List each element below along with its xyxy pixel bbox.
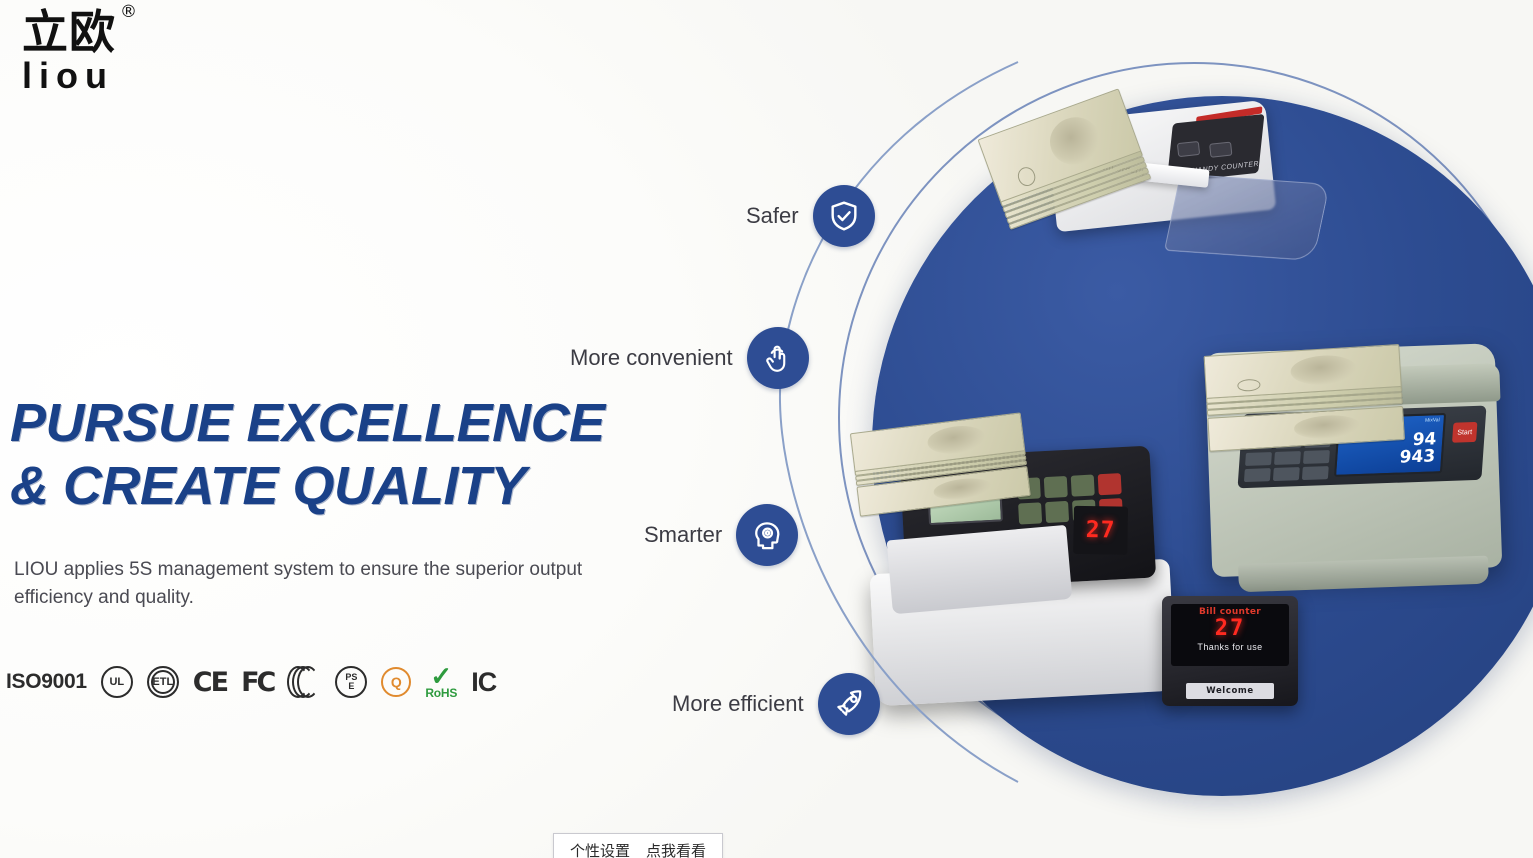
cert-fcc-icon: FC xyxy=(241,667,273,698)
registered-trademark-icon: ® xyxy=(120,4,138,22)
portable-clear-tray xyxy=(1164,174,1330,262)
black-counter-cash-stack xyxy=(850,412,1029,504)
logo-latin-name: liou xyxy=(22,58,222,94)
hero-product-circle: HANDY COUNTER Please place bill orderly xyxy=(838,62,1533,802)
external-display-frame: Bill counter 27 Thanks for use Welcome xyxy=(1162,596,1298,706)
black-counter-led-value: 27 xyxy=(1086,517,1116,544)
portable-button-1 xyxy=(1177,141,1200,157)
touch-fingerprint-icon xyxy=(747,327,809,389)
external-display-button-label: Welcome xyxy=(1206,686,1253,696)
cert-ul-icon: UL xyxy=(101,666,133,698)
cert-cqc-icon: Q xyxy=(381,667,411,697)
black-counter-hopper xyxy=(887,525,1073,614)
product-green-counter: AUTO USD MixVal Auto Start Batch Stop 10… xyxy=(1189,304,1530,645)
head-ai-icon xyxy=(736,504,798,566)
portable-button-2 xyxy=(1209,142,1232,158)
tooltip-label-settings: 个性设置 xyxy=(570,840,630,858)
shield-check-icon xyxy=(813,185,875,247)
banner-stage: 立欧 ® liou PURSUE EXCELLENCE & CREATE QUA… xyxy=(0,0,1533,858)
external-display-message: Thanks for use xyxy=(1171,642,1289,652)
cert-pse-icon: PS E xyxy=(335,666,367,698)
external-display-value: 27 xyxy=(1171,618,1289,640)
page-title: PURSUE EXCELLENCE & CREATE QUALITY xyxy=(10,392,650,518)
green-counter-cash-stack xyxy=(1204,344,1405,452)
lcd-corner: MixVal xyxy=(1425,417,1440,424)
headline-line-1: PURSUE EXCELLENCE xyxy=(10,392,650,455)
cert-ic-icon: IC xyxy=(471,667,496,698)
rocket-icon xyxy=(818,673,880,735)
black-counter-led-display: 27 xyxy=(1073,506,1128,555)
green-counter-body: AUTO USD MixVal Auto Start Batch Stop 10… xyxy=(1205,343,1503,577)
product-black-counter: 27 xyxy=(852,409,1208,746)
green-counter-start-button[interactable]: Start xyxy=(1452,422,1477,443)
tooltip-label-click-me: 点我看看 xyxy=(646,840,706,858)
personalization-tooltip[interactable]: 个性设置 点我看看 xyxy=(553,833,723,858)
feature-smarter-label: Smarter xyxy=(644,522,722,548)
logo-chinese-name: 立欧 ® xyxy=(22,8,116,56)
product-external-display: Bill counter 27 Thanks for use Welcome xyxy=(1162,596,1298,706)
cert-etl-icon: ETL xyxy=(147,666,179,698)
feature-efficient-label: More efficient xyxy=(672,691,804,717)
certification-list: ISO9001 UL ETL CE FC PS E Q ✓ RoHS xyxy=(6,666,496,699)
feature-convenient-label: More convenient xyxy=(570,345,733,371)
feature-safer[interactable]: Safer xyxy=(746,185,875,247)
subheading-text: LIOU applies 5S management system to ens… xyxy=(14,556,594,611)
external-display-screen: Bill counter 27 Thanks for use xyxy=(1171,604,1289,666)
headline-line-2: & CREATE QUALITY xyxy=(10,455,650,518)
cert-ce-icon: CE xyxy=(193,667,227,698)
cert-ccc-icon xyxy=(287,666,321,698)
external-display-button[interactable]: Welcome xyxy=(1186,683,1274,699)
cert-rohs-icon: ✓ RoHS xyxy=(425,666,457,699)
brand-logo[interactable]: 立欧 ® liou xyxy=(22,8,222,94)
cert-iso9001-icon: ISO9001 xyxy=(6,670,87,694)
feature-safer-label: Safer xyxy=(746,203,799,229)
feature-more-efficient[interactable]: More efficient xyxy=(672,673,880,735)
logo-chinese-text: 立欧 xyxy=(22,5,116,59)
rohs-check-icon: ✓ xyxy=(430,666,452,687)
feature-smarter[interactable]: Smarter xyxy=(644,504,798,566)
lcd-amount-value: 943 xyxy=(1337,448,1442,469)
feature-more-convenient[interactable]: More convenient xyxy=(570,327,809,389)
